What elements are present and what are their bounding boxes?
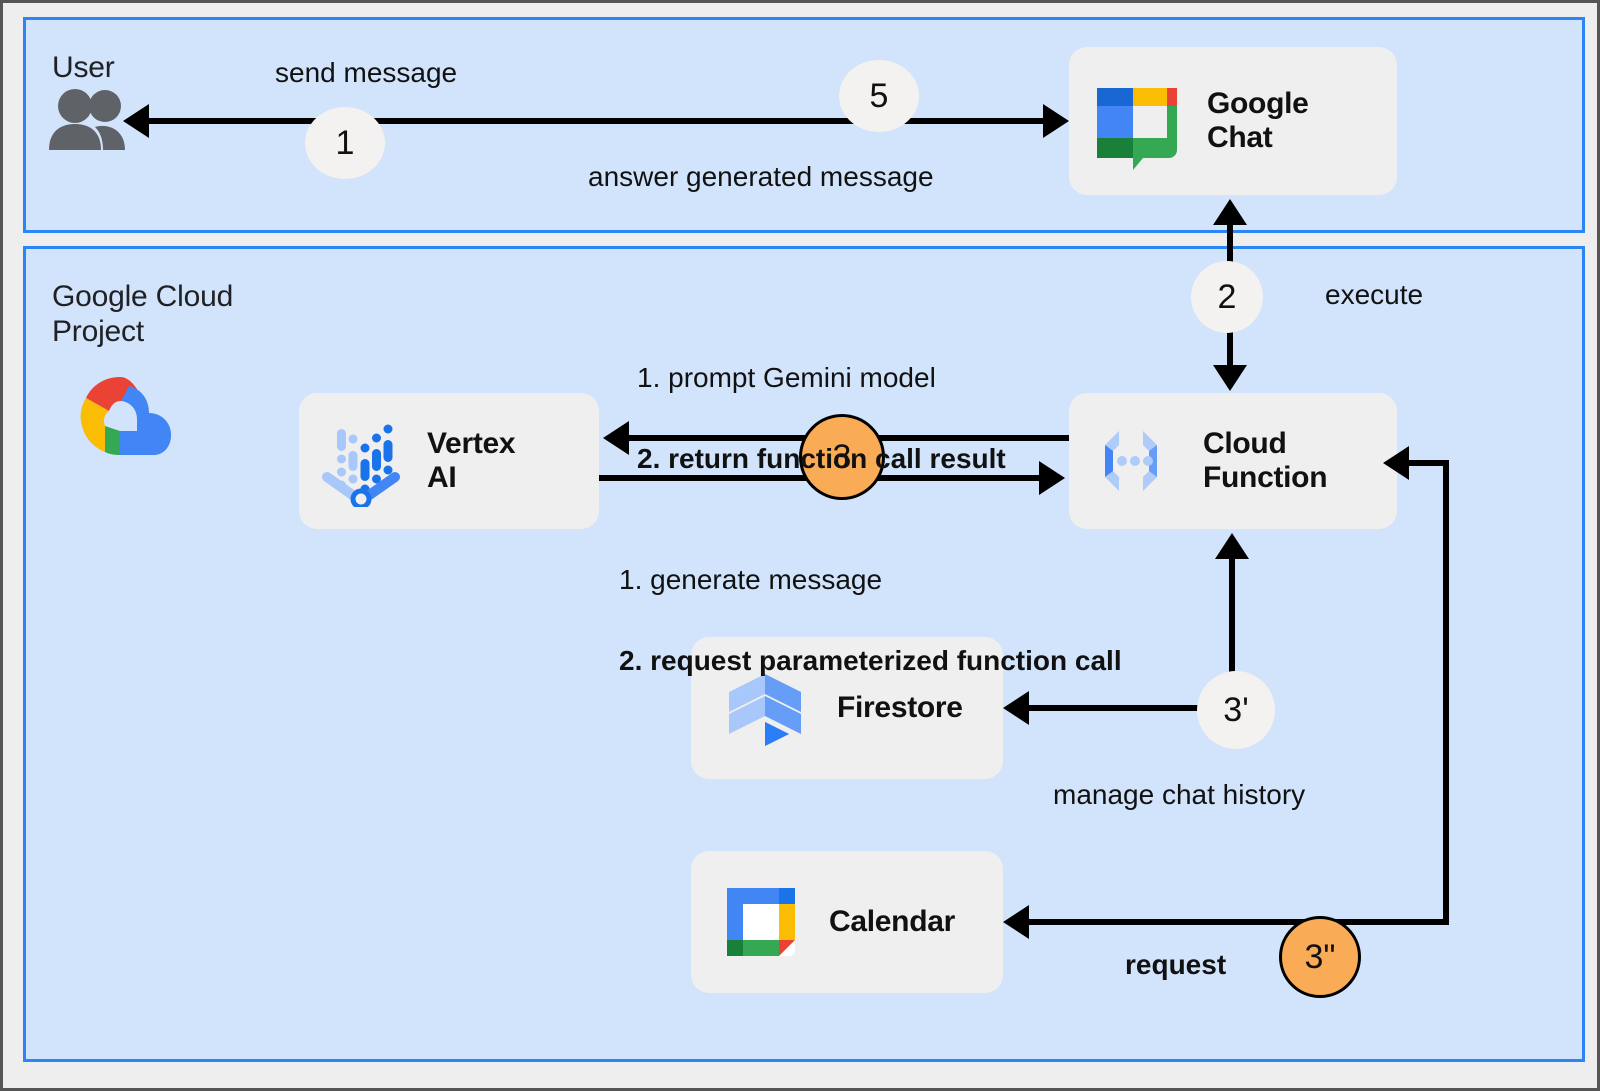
- edge-loop-to-calendar-arrowhead: [1003, 905, 1029, 939]
- edge-firestore-to-function-line: [1229, 555, 1235, 681]
- node-cloud-function-label: Cloud Function: [1203, 427, 1327, 494]
- edge-label-vertex-to-function: 1. generate message 2. request parameter…: [619, 519, 1122, 722]
- step-badge-2: 2: [1191, 261, 1263, 333]
- edge-chat-to-function-arrowhead: [1213, 365, 1247, 391]
- edge-label-generate-message: 1. generate message: [619, 560, 1122, 601]
- cloud-functions-icon: [1085, 415, 1177, 507]
- edge-label-return-function-call: 2. return function call result: [637, 439, 1006, 480]
- edge-loop-vertical-line: [1443, 463, 1449, 923]
- node-cloud-function[interactable]: Cloud Function: [1069, 393, 1397, 529]
- vertex-ai-icon: [315, 415, 407, 507]
- edge-function-to-vertex-arrowhead: [603, 421, 629, 455]
- edge-loop-to-function-arrowhead: [1383, 446, 1409, 480]
- edge-vertex-to-function-arrowhead: [1039, 461, 1065, 495]
- step-badge-5: 5: [839, 60, 919, 132]
- edge-user-to-chat-arrowhead: [1043, 104, 1069, 138]
- google-chat-logo: [1087, 72, 1185, 170]
- architecture-diagram: User: [0, 0, 1600, 1091]
- edge-label-function-to-vertex: 1. prompt Gemini model 2. return functio…: [637, 317, 1006, 520]
- panel-user-zone-title: User: [52, 50, 115, 85]
- edge-junction-to-firestore-line: [1023, 705, 1209, 711]
- node-vertex-ai[interactable]: Vertex AI: [299, 393, 599, 529]
- edge-label-request-parameterized: 2. request parameterized function call: [619, 641, 1122, 682]
- edge-label-prompt-gemini: 1. prompt Gemini model: [637, 358, 1006, 399]
- edge-function-to-chat-arrowhead: [1213, 199, 1247, 225]
- edge-label-execute: execute: [1325, 275, 1423, 316]
- step-badge-3-prime: 3': [1197, 671, 1275, 749]
- edge-label-manage-chat-history: manage chat history: [1053, 775, 1305, 816]
- edge-loop-to-calendar-line: [1023, 919, 1449, 925]
- google-calendar-logo: [719, 880, 803, 964]
- panel-google-cloud-project-title: Google Cloud Project: [52, 279, 233, 350]
- people-icon: [45, 87, 131, 153]
- edge-junction-to-firestore-arrowhead: [1003, 691, 1029, 725]
- node-calendar-label: Calendar: [829, 905, 955, 939]
- node-google-chat-label: Google Chat: [1207, 87, 1309, 154]
- edge-loop-to-function-line: [1403, 460, 1449, 466]
- step-badge-1: 1: [305, 107, 385, 179]
- edge-label-send-message: send message: [275, 53, 457, 94]
- node-google-chat[interactable]: Google Chat: [1069, 47, 1397, 195]
- google-cloud-logo: [65, 373, 175, 459]
- node-vertex-ai-label: Vertex AI: [427, 427, 515, 494]
- edge-chat-to-user-arrowhead: [123, 104, 149, 138]
- step-badge-3-double-prime: 3": [1279, 916, 1361, 998]
- node-calendar[interactable]: Calendar: [691, 851, 1003, 993]
- edge-label-answer-generated-message: answer generated message: [588, 157, 934, 198]
- edge-chat-to-user-line: [143, 118, 1055, 124]
- edge-label-request: request: [1125, 945, 1226, 986]
